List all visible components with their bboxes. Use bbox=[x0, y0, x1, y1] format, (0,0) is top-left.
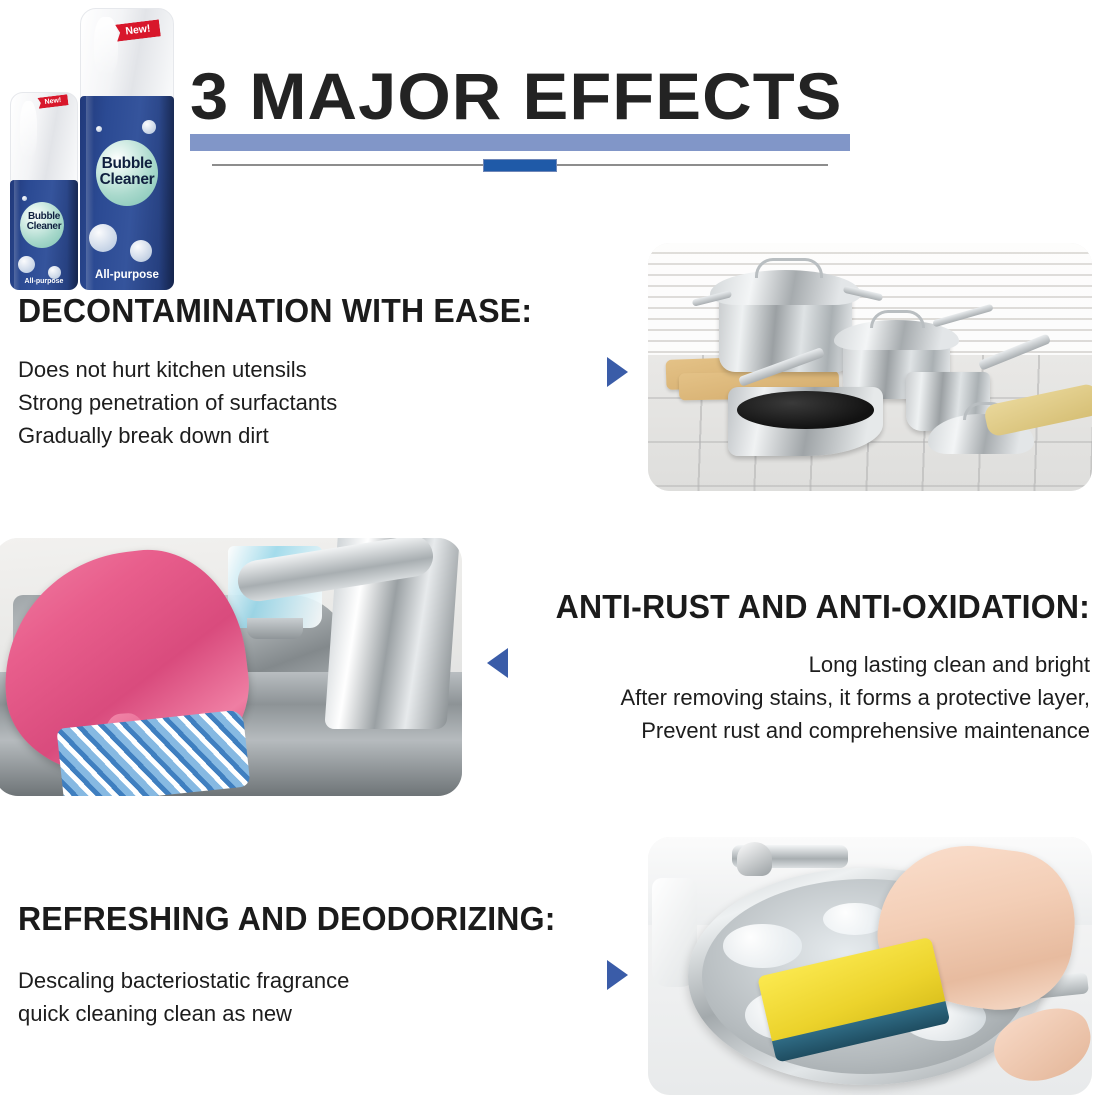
medium-pot-lid-knob bbox=[870, 310, 925, 328]
section-1-line-3: Gradually break down dirt bbox=[18, 419, 618, 452]
bottle-brand-line1: Bubble bbox=[102, 155, 153, 172]
bottle-brand-line2: Cleaner bbox=[27, 221, 62, 232]
section-1-line-1: Does not hurt kitchen utensils bbox=[18, 353, 618, 386]
section-3-line-2: quick cleaning clean as new bbox=[18, 997, 618, 1030]
product-bottles-group: Bubble Cleaner All-purpose New! Bubble C… bbox=[6, 4, 186, 286]
section-1-heading: DECONTAMINATION WITH EASE: bbox=[18, 292, 600, 330]
section-1-line-2: Strong penetration of surfactants bbox=[18, 386, 618, 419]
soap-foam-1 bbox=[723, 924, 801, 967]
title-underline-thin-group bbox=[190, 159, 850, 171]
section-2-heading: ANTI-RUST AND ANTI-OXIDATION: bbox=[489, 588, 1090, 626]
section-antirust-text: ANTI-RUST AND ANTI-OXIDATION: Long lasti… bbox=[470, 588, 1090, 747]
bottle-brand-text-small: Bubble Cleaner bbox=[10, 212, 78, 233]
bottle-pump-cap bbox=[80, 8, 174, 106]
cookware-scene bbox=[648, 243, 1092, 491]
bottle-brand-line2: Cleaner bbox=[100, 171, 155, 188]
section-3-line-1: Descaling bacteriostatic fragrance bbox=[18, 964, 618, 997]
arrow-right-icon bbox=[607, 357, 628, 387]
soap-bottle-base bbox=[247, 618, 303, 639]
sink-scene bbox=[0, 538, 462, 796]
bottle-footer-text-large: All-purpose bbox=[80, 269, 174, 281]
section-3-heading: REFRESHING AND DEODORIZING: bbox=[18, 900, 600, 938]
section-1-body: Does not hurt kitchen utensils Strong pe… bbox=[18, 353, 618, 452]
bottle-brand-text-large: Bubble Cleaner bbox=[80, 156, 174, 188]
bottle-footer-text-small: All-purpose bbox=[10, 278, 78, 285]
bottle-bubble-small-1 bbox=[89, 224, 117, 252]
bottle-label-body: Bubble Cleaner All-purpose bbox=[80, 96, 174, 290]
section-2-line-2: After removing stains, it forms a protec… bbox=[470, 681, 1090, 714]
bottle-bubble-small-3 bbox=[22, 196, 27, 201]
arrow-right-icon bbox=[607, 960, 628, 990]
bottle-bubble-small-4 bbox=[96, 126, 102, 132]
large-pot-lid-knob bbox=[755, 258, 823, 278]
bottle-bubble-small-2 bbox=[130, 240, 152, 262]
page-header: 3 MAJOR EFFECTS bbox=[190, 62, 850, 171]
section-refreshing-text: REFRESHING AND DEODORIZING: Descaling ba… bbox=[18, 900, 618, 1030]
faucet-knob bbox=[737, 842, 773, 876]
photo-washing-pan bbox=[648, 837, 1092, 1095]
frying-pan-interior bbox=[737, 391, 874, 429]
arrow-left-icon bbox=[487, 648, 508, 678]
title-underline-thick bbox=[190, 134, 850, 151]
bottle-label-body: Bubble Cleaner All-purpose bbox=[10, 180, 78, 290]
section-2-line-3: Prevent rust and comprehensive maintenan… bbox=[470, 714, 1090, 747]
section-decontamination-text: DECONTAMINATION WITH EASE: Does not hurt… bbox=[18, 292, 618, 452]
title-underline-knob bbox=[483, 159, 557, 172]
washing-scene bbox=[648, 837, 1092, 1095]
section-3-body: Descaling bacteriostatic fragrance quick… bbox=[18, 964, 618, 1030]
photo-sink-cleaning bbox=[0, 538, 462, 796]
section-2-body: Long lasting clean and bright After remo… bbox=[470, 648, 1090, 747]
photo-cookware-set bbox=[648, 243, 1092, 491]
page-title: 3 MAJOR EFFECTS bbox=[190, 62, 876, 130]
product-bottle-small: Bubble Cleaner All-purpose New! bbox=[10, 92, 78, 290]
bottle-bubble-small-3 bbox=[142, 120, 156, 134]
section-2-line-1: Long lasting clean and bright bbox=[470, 648, 1090, 681]
infographic-page: Bubble Cleaner All-purpose New! Bubble C… bbox=[0, 0, 1100, 1100]
bottle-bubble-small-1 bbox=[18, 256, 35, 273]
product-bottle-large: Bubble Cleaner All-purpose New! bbox=[80, 8, 174, 290]
nonstick-frying-pan bbox=[728, 387, 883, 456]
